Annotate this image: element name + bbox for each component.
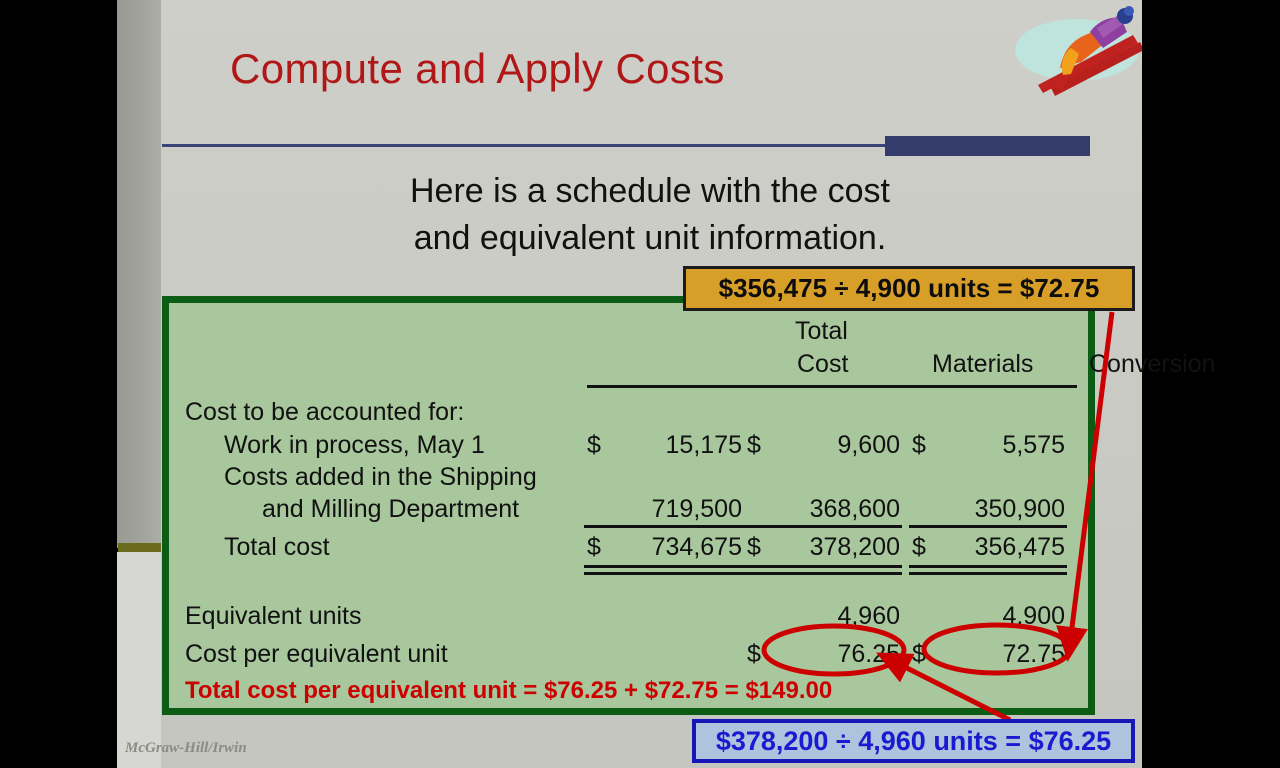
currency-symbol: $ [747, 431, 761, 460]
page-title: Compute and Apply Costs [230, 45, 725, 93]
ski-jumper-logo [1005, 2, 1153, 102]
total-double-rule [744, 565, 902, 568]
table-cell-conversion: 350,900 [945, 495, 1065, 524]
table-row-label: Work in process, May 1 [224, 431, 485, 460]
table-cell-conversion: 5,575 [945, 431, 1065, 460]
table-cell-total: 734,675 [622, 533, 742, 562]
header-rule-thin [162, 144, 887, 147]
table-row-label: Total cost [224, 533, 330, 562]
table-row-label: Costs added in the Shipping [224, 463, 537, 492]
table-cell-materials: 9,600 [780, 431, 900, 460]
right-letterbox [1142, 0, 1280, 768]
callout-materials-cost: $378,200 ÷ 4,960 units = $76.25 [692, 719, 1135, 763]
table-cell-materials: 378,200 [780, 533, 900, 562]
table-cell-materials: 368,600 [780, 495, 900, 524]
currency-symbol: $ [587, 533, 601, 562]
column-header-total-line1: Total [795, 317, 848, 346]
currency-symbol: $ [747, 533, 761, 562]
table-cell-materials: 4,960 [780, 602, 900, 631]
table-row-label: and Milling Department [262, 495, 519, 524]
table-cell-materials: 76.25 [780, 640, 900, 669]
table-cell-total: 719,500 [622, 495, 742, 524]
currency-symbol: $ [912, 533, 926, 562]
table-row-label: Cost to be accounted for: [185, 398, 464, 427]
currency-symbol: $ [912, 431, 926, 460]
publisher-credit: McGraw-Hill/Irwin [125, 740, 247, 757]
total-double-rule [744, 572, 902, 575]
total-double-rule [909, 565, 1067, 568]
currency-symbol: $ [747, 640, 761, 669]
subtitle-line-1: Here is a schedule with the cost [350, 168, 950, 215]
subtotal-rule [744, 525, 902, 528]
left-band-light [117, 552, 161, 768]
table-cell-conversion: 356,475 [945, 533, 1065, 562]
header-underline [587, 385, 1077, 388]
subtitle-text: Here is a schedule with the cost and equ… [350, 168, 950, 262]
subtotal-rule [909, 525, 1067, 528]
callout-conversion-cost: $356,475 ÷ 4,900 units = $72.75 [683, 266, 1135, 311]
column-header-conversion: Conversion [1089, 350, 1215, 379]
table-row-label: Cost per equivalent unit [185, 640, 448, 669]
total-double-rule [909, 572, 1067, 575]
table-cell-conversion: 72.75 [945, 640, 1065, 669]
left-band-dark [117, 0, 161, 548]
table-row-label: Equivalent units [185, 602, 362, 631]
total-double-rule [584, 572, 744, 575]
slide-canvas: Compute and Apply Costs Here is a schedu… [0, 0, 1280, 768]
table-cell-total: 15,175 [622, 431, 742, 460]
subtotal-rule [584, 525, 744, 528]
subtitle-line-2: and equivalent unit information. [350, 215, 950, 262]
currency-symbol: $ [912, 640, 926, 669]
header-rule-thick [885, 136, 1090, 156]
column-header-materials: Materials [932, 350, 1033, 379]
left-band-olive-divider [118, 543, 162, 552]
currency-symbol: $ [587, 431, 601, 460]
cost-schedule-table: Total Cost Materials Conversion Cost to … [162, 296, 1095, 715]
total-cost-per-unit-note: Total cost per equivalent unit = $76.25 … [185, 677, 832, 705]
total-double-rule [584, 565, 744, 568]
column-header-total-line2: Cost [797, 350, 848, 379]
table-cell-conversion: 4,900 [945, 602, 1065, 631]
